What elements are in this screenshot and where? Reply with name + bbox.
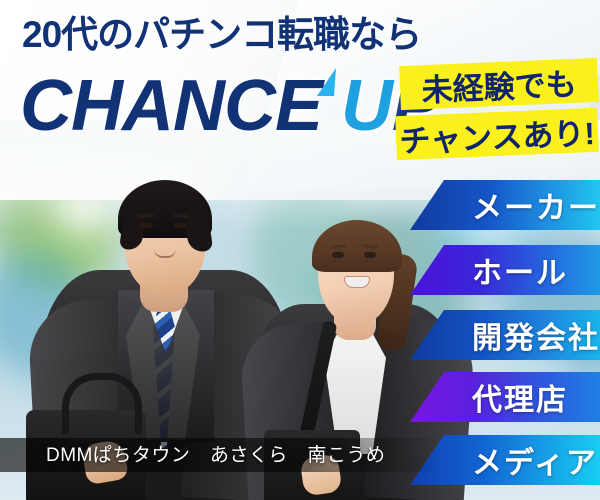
category-label: メーカー bbox=[472, 183, 600, 227]
category-button-hall[interactable]: ホール bbox=[410, 245, 600, 295]
category-button-maker[interactable]: メーカー bbox=[410, 180, 600, 230]
category-button-agency[interactable]: 代理店 bbox=[410, 372, 600, 422]
advertisement-banner[interactable]: 20代のパチンコ転職なら CHANCE UP 未経験でも チャンスあり! メーカ… bbox=[0, 0, 600, 500]
category-button-development-company[interactable]: 開発会社 bbox=[410, 310, 600, 360]
category-list: メーカー ホール 開発会社 代理店 メディア bbox=[0, 0, 600, 500]
category-label: ホール bbox=[472, 248, 568, 292]
category-label: 代理店 bbox=[472, 375, 568, 419]
category-label: メディア bbox=[472, 438, 598, 482]
caption-credits: DMMぱちタウン あさくら 南こうめ bbox=[46, 440, 385, 467]
category-label: 開発会社 bbox=[472, 313, 600, 357]
